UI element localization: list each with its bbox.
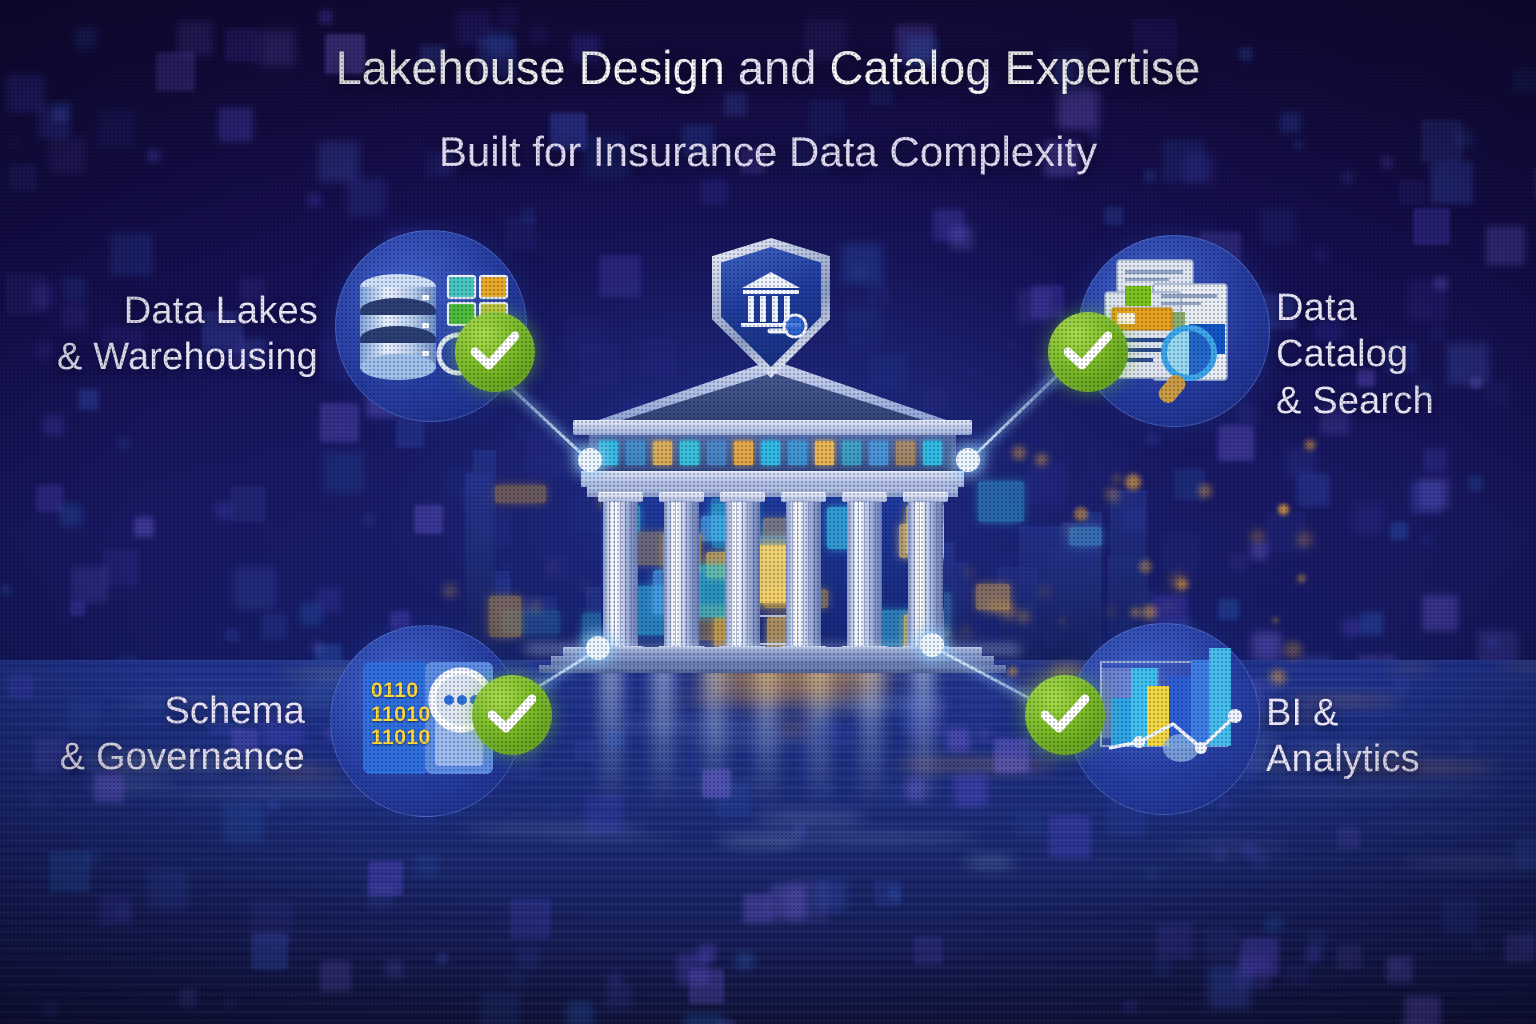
status-check-schema-governance[interactable] — [472, 675, 552, 755]
temple-column — [603, 501, 638, 647]
pillar-label-data-catalog: Data Catalog & Search — [1276, 285, 1526, 424]
temple-column — [786, 501, 821, 647]
temple-column — [908, 501, 943, 647]
pillar-label-schema-governance: Schema & Governance — [30, 688, 305, 781]
shield-bank-search-icon — [712, 238, 830, 378]
page-subtitle: Built for Insurance Data Complexity — [0, 131, 1536, 173]
binary-digits: 0110 11010 11010 — [371, 679, 431, 750]
node-bottom-left — [586, 636, 610, 660]
status-check-data-catalog[interactable] — [1048, 312, 1128, 392]
node-top-left — [578, 448, 602, 472]
pillar-label-data-lakes: Data Lakes & Warehousing — [40, 288, 318, 381]
pillar-label-line3: & Search — [1276, 378, 1526, 424]
title-part-secondary: Catalog Expertise — [829, 41, 1200, 94]
temple-column — [847, 501, 882, 647]
pillar-label-bi-analytics: BI & Analytics — [1266, 690, 1516, 783]
node-bottom-right — [920, 633, 944, 657]
temple-column — [664, 501, 699, 647]
binary-row: 11010 — [371, 726, 431, 750]
subtitle-line: Built for Insurance Data Complexity — [0, 131, 1536, 173]
status-check-bi-analytics[interactable] — [1025, 675, 1105, 755]
status-check-data-lakes[interactable] — [455, 312, 535, 392]
pillar-label-line1: Data — [1276, 285, 1526, 331]
infographic-canvas: Data Lakes & Warehousing — [0, 0, 1536, 1024]
title-line-1: Lakehouse Design and Catalog Expertise — [0, 44, 1536, 91]
pillar-label-line1: Schema — [30, 688, 305, 734]
binary-row: 0110 — [371, 679, 431, 703]
temple-column — [725, 501, 760, 647]
pillar-label-line1: BI & — [1266, 690, 1516, 736]
title-part-conjunction: and — [725, 41, 830, 94]
pillar-label-line2: & Warehousing — [40, 334, 318, 380]
pillar-label-line2: Catalog — [1276, 331, 1526, 377]
pillar-label-line2: Analytics — [1266, 736, 1516, 782]
node-top-right — [956, 448, 980, 472]
pillar-label-line1: Data Lakes — [40, 288, 318, 334]
title-part-primary: Lakehouse Design — [336, 41, 725, 94]
pillar-label-line2: & Governance — [30, 734, 305, 780]
binary-row: 11010 — [371, 703, 431, 727]
page-title: Lakehouse Design and Catalog Expertise — [0, 44, 1536, 91]
